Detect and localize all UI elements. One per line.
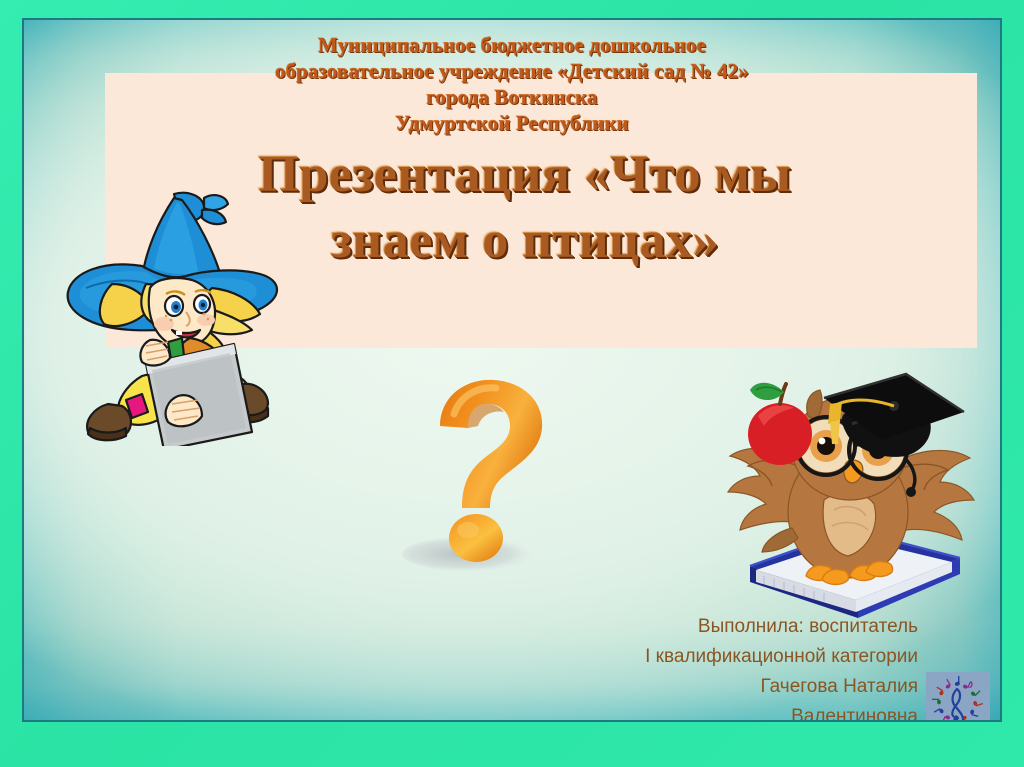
- attribution-line-2: I квалификационной категории: [498, 642, 918, 672]
- boy-in-blue-hat-illustration: [46, 188, 294, 446]
- graduate-owl-illustration: [712, 340, 990, 628]
- slide-canvas: Муниципальное бюджетное дошкольное образ…: [24, 20, 1000, 720]
- attribution-line-1: Выполнила: воспитатель: [498, 612, 918, 642]
- question-mark-illustration: [396, 372, 586, 587]
- presentation-slide: Муниципальное бюджетное дошкольное образ…: [0, 0, 1024, 767]
- music-notes-logo: [926, 672, 990, 720]
- header-line-1: Муниципальное бюджетное дошкольное: [24, 32, 1000, 58]
- attribution-line-4: Валентиновна: [498, 702, 918, 720]
- attribution-line-3: Гачегова Наталия: [498, 672, 918, 702]
- author-attribution: Выполнила: воспитатель I квалификационно…: [498, 612, 918, 720]
